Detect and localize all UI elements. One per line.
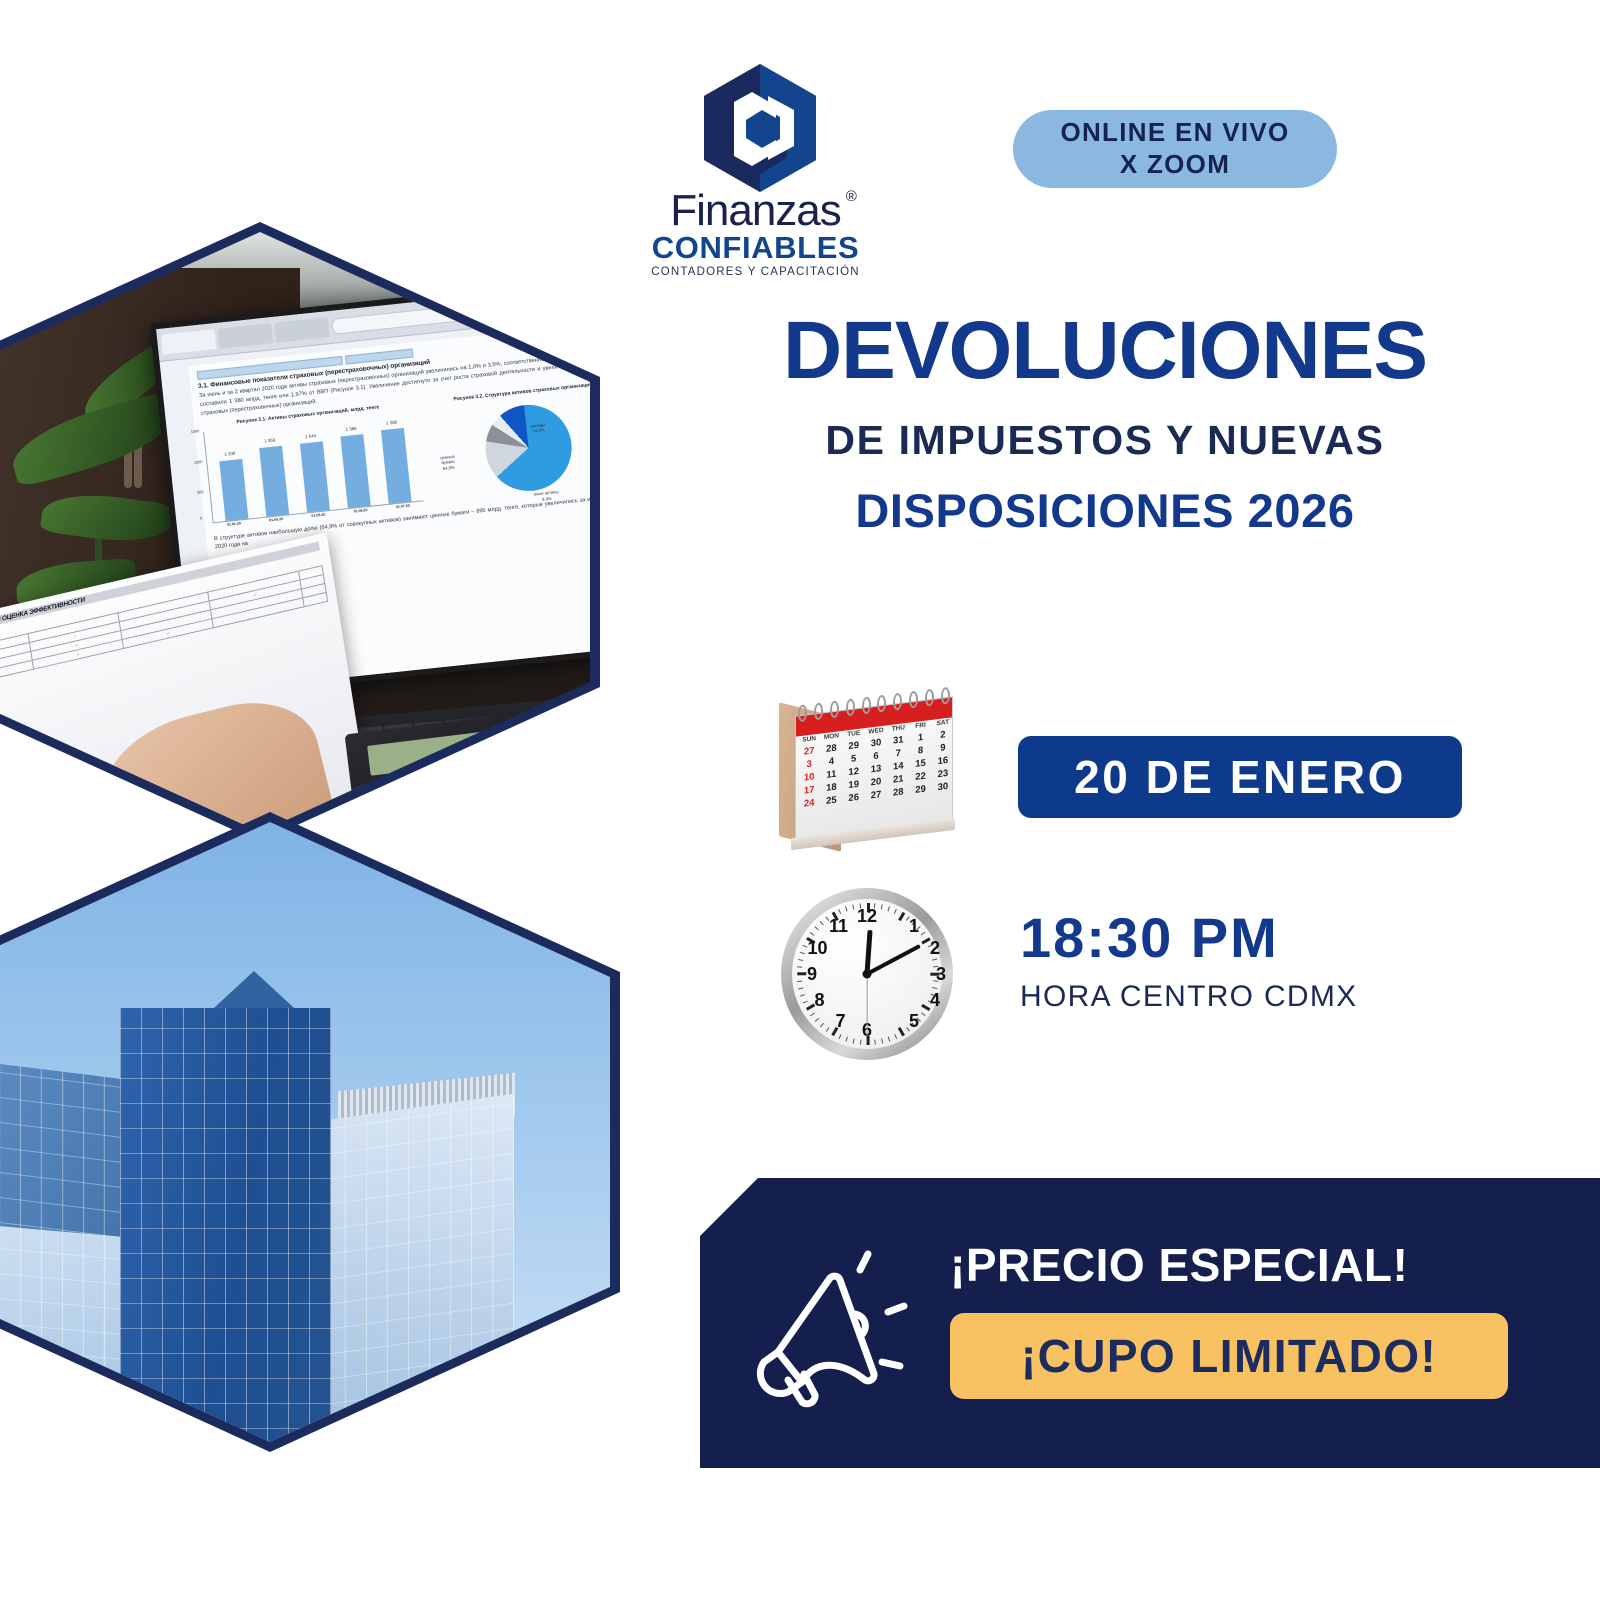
- building-main-tower: [120, 1008, 331, 1442]
- limited-seats-badge: ¡CUPO LIMITADO!: [950, 1313, 1508, 1399]
- brand-name: Finanzas ® CONFIABLES CONTADORES Y CAPAC…: [648, 190, 863, 278]
- brand-logo: Finanzas ® CONFIABLES CONTADORES Y CAPAC…: [648, 62, 863, 267]
- page-subtitle-1: DE IMPUESTOS Y NUEVAS: [690, 418, 1520, 463]
- desk-calendar-icon: SUNMONTUEWEDTHUFRISAT 272829303112 34567…: [765, 688, 960, 853]
- promo-headline: ¡PRECIO ESPECIAL!: [950, 1240, 1550, 1291]
- event-timezone-label: HORA CENTRO CDMX: [1020, 982, 1465, 1012]
- megaphone-icon: [742, 1240, 917, 1410]
- page-title: DEVOLUCIONES: [690, 310, 1520, 392]
- event-date-row: SUNMONTUEWEDTHUFRISAT 272829303112 34567…: [765, 688, 1465, 853]
- limited-seats-label: ¡CUPO LIMITADO!: [1021, 1329, 1437, 1383]
- building-right-wing: [324, 1094, 514, 1442]
- page-subtitle-2: DISPOSICIONES 2026: [690, 485, 1520, 537]
- wall-clock-icon: 12 1 2 3 4 5 6 7 8 9 10 11: [781, 888, 953, 1060]
- brand-name-line1: Finanzas: [670, 186, 841, 235]
- event-date-label: 20 DE ENERO: [1074, 750, 1406, 804]
- online-badge-line1: ONLINE EN VIVO: [1060, 117, 1289, 149]
- pie-chart: ценныебумаги64,9% вклады14,2% активыпере…: [418, 387, 590, 509]
- hexagon-office-photo: 3.1. Финансовые показатели страховых (пе…: [0, 222, 600, 842]
- online-badge-line2: X ZOOM: [1120, 149, 1230, 181]
- event-time-value: 18:30 PM: [1020, 910, 1465, 966]
- event-date-badge: 20 DE ENERO: [1018, 736, 1462, 818]
- headline-block: DEVOLUCIONES DE IMPUESTOS Y NUEVAS DISPO…: [690, 310, 1520, 537]
- hexagon-interlock-logo-icon: [690, 62, 830, 194]
- promo-banner: ¡PRECIO ESPECIAL! ¡CUPO LIMITADO!: [700, 1178, 1600, 1468]
- online-live-badge: ONLINE EN VIVO X ZOOM: [1013, 110, 1337, 188]
- hexagon-building-photo: [0, 812, 620, 1452]
- brand-name-line2: CONFIABLES: [648, 232, 863, 263]
- registered-mark: ®: [846, 190, 856, 204]
- brand-tagline: CONTADORES Y CAPACITACIÓN: [648, 266, 863, 278]
- event-time-row: 12 1 2 3 4 5 6 7 8 9 10 11 18:30 PM HORA…: [765, 888, 1465, 1078]
- hexagon-image-collage: 3.1. Финансовые показатели страховых (пе…: [0, 0, 700, 1480]
